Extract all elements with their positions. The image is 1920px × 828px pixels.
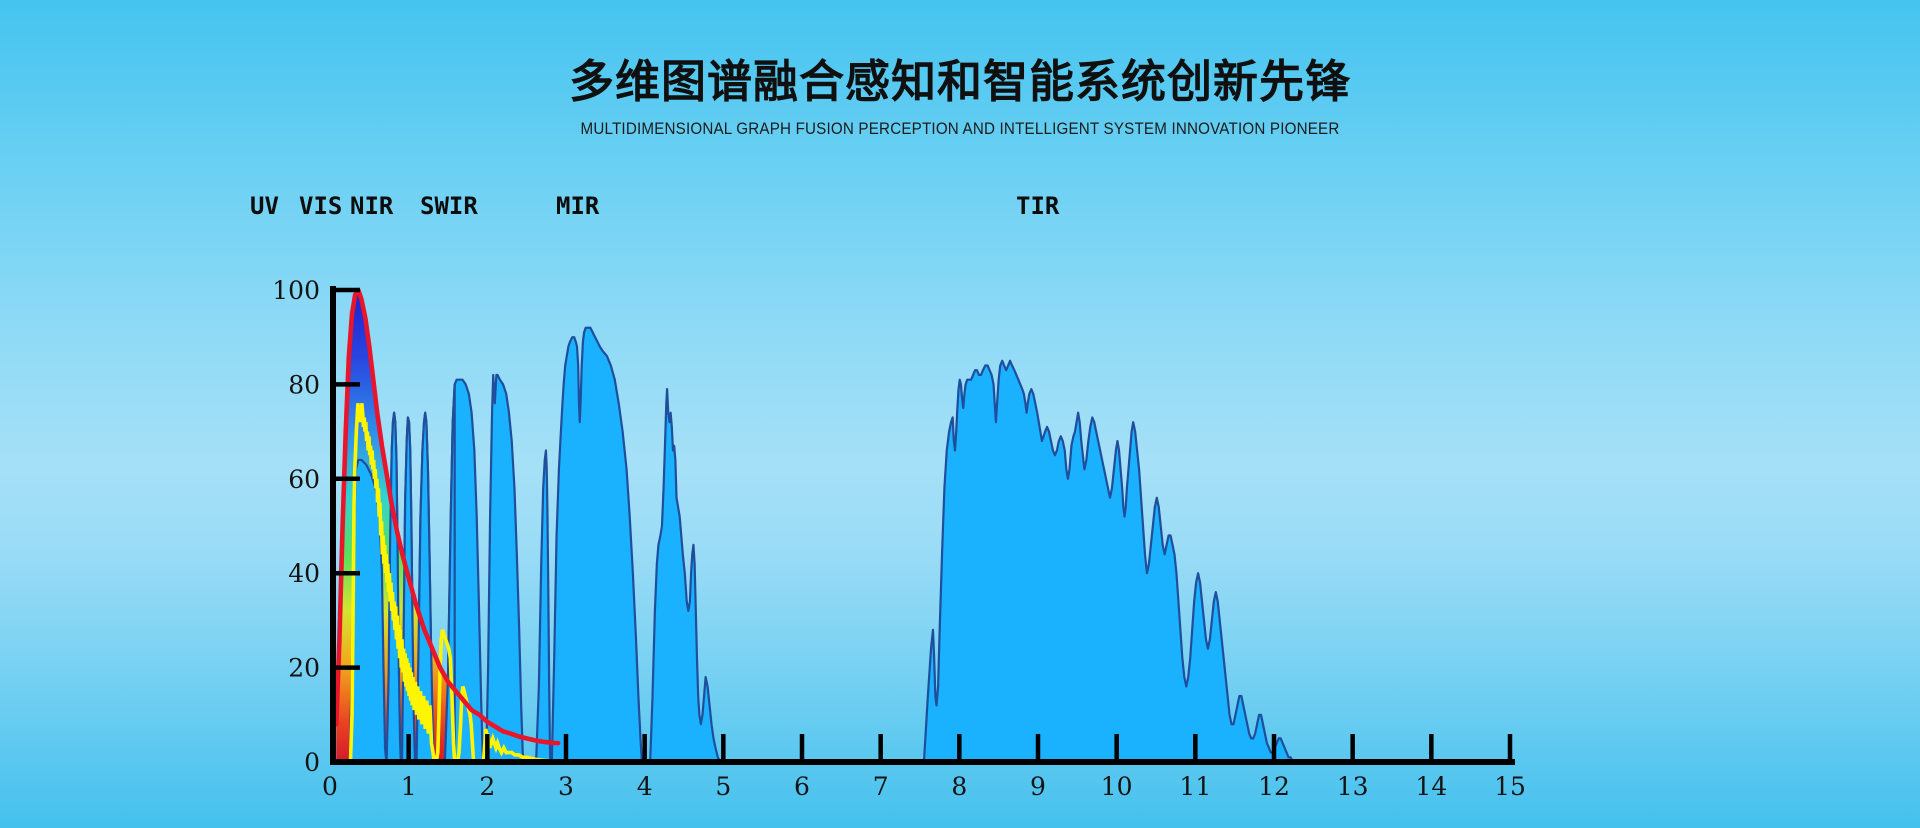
x-tick-label: 5: [715, 772, 731, 801]
y-tick-label: 60: [288, 465, 320, 494]
y-tick-label: 100: [272, 276, 320, 305]
x-tick-label: 2: [479, 772, 495, 801]
x-tick-label: 0: [322, 772, 338, 801]
x-tick-label: 15: [1494, 772, 1526, 801]
poster-canvas: 多维图谱融合感知和智能系统创新先锋 MULTIDIMENSIONAL GRAPH…: [0, 0, 1920, 828]
band-label-uv: UV: [250, 192, 279, 220]
y-tick-label: 80: [288, 370, 320, 399]
spectrum-chart-svg: UV VIS NIR SWIR MIR TIR 020406080100 012…: [0, 0, 1920, 828]
x-tick-label: 12: [1258, 772, 1290, 801]
x-tick-label: 11: [1179, 772, 1211, 801]
series-atmospheric-transmission: [330, 328, 1510, 762]
y-tick-label: 40: [288, 559, 320, 588]
band-label-mir: MIR: [556, 192, 600, 220]
y-tick-label: 0: [304, 748, 320, 777]
band-label-tir: TIR: [1016, 192, 1060, 220]
x-tick-label: 4: [637, 772, 653, 801]
spectrum-chart: UV VIS NIR SWIR MIR TIR 020406080100 012…: [0, 0, 1920, 828]
x-tick-label: 8: [951, 772, 967, 801]
y-tick-label-layer: 020406080100: [272, 276, 320, 777]
x-tick-label: 14: [1415, 772, 1447, 801]
x-tick-label: 13: [1337, 772, 1369, 801]
band-label-swir: SWIR: [420, 192, 478, 220]
series-layer: [330, 290, 1510, 762]
x-tick-label: 7: [873, 772, 889, 801]
x-tick-label-layer: 0123456789101112131415: [322, 772, 1526, 801]
y-tick-label: 20: [288, 654, 320, 683]
x-tick-label: 1: [401, 772, 417, 801]
band-label-vis: VIS: [299, 192, 342, 220]
x-tick-label: 9: [1030, 772, 1046, 801]
x-tick-label: 10: [1101, 772, 1133, 801]
band-label-nir: NIR: [350, 192, 394, 220]
x-tick-label: 6: [794, 772, 810, 801]
x-tick-label: 3: [558, 772, 574, 801]
band-label-group: UV VIS NIR SWIR MIR TIR: [250, 192, 1060, 220]
